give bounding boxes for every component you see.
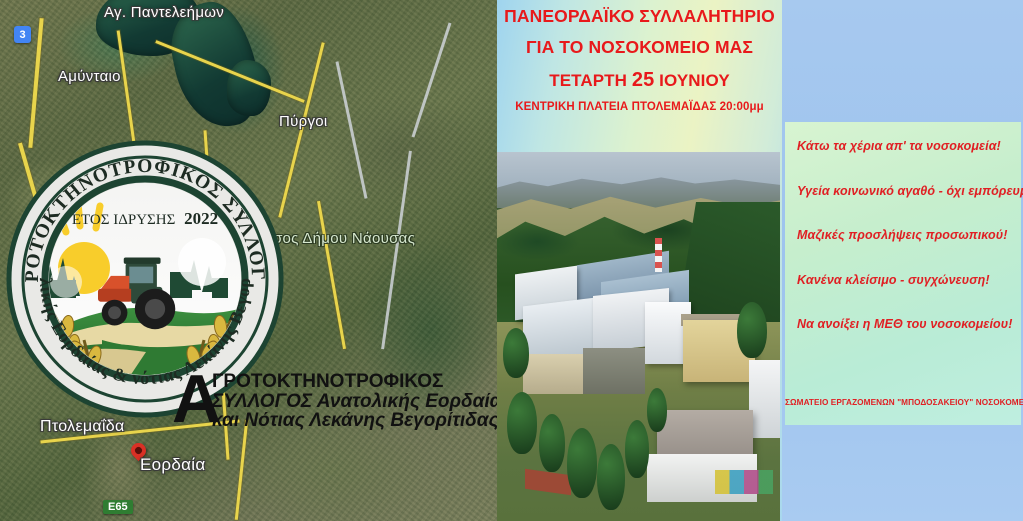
announcement-heading-block: ΠΑΝΕΟΡΔΑΪΚΟ ΣΥΛΛΑΛΗΤΗΡΙΟ ΓΙΑ ΤΟ ΝΟΣΟΚΟΜΕ… bbox=[497, 0, 782, 114]
photo-tree bbox=[597, 444, 625, 510]
slogan-item-4: Κανένα κλείσιμο - συγχώνευση! bbox=[797, 274, 1011, 287]
photo-tree bbox=[567, 428, 597, 498]
slogan-box: Κάτω τα χέρια απ' τα νοσοκομεία! Υγεία κ… bbox=[785, 122, 1021, 425]
photo-tree bbox=[503, 328, 529, 378]
union-signature-text: ΣΩΜΑΤΕΙΟ ΕΡΓΑΖΟΜΕΝΩΝ "ΜΠΟΔΟΣΑΚΕΙΟΥ" ΝΟΣΟ… bbox=[785, 398, 1021, 407]
map-label-eordaia: Εορδαία bbox=[140, 455, 205, 475]
union-poster-panel: Κάτω τα χέρια απ' τα νοσοκομεία! Υγεία κ… bbox=[782, 0, 1023, 521]
announcement-date-line: ΤΕΤΑΡΤΗ 25 ΙΟΥΝΙΟΥ bbox=[497, 70, 782, 90]
announcement-day-number: 25 bbox=[632, 69, 654, 91]
emblem-founded-year: 2022 bbox=[184, 209, 218, 228]
photo-tree bbox=[737, 302, 767, 358]
photo-tree bbox=[647, 388, 667, 432]
announcement-location-time: ΚΕΝΤΡΙΚΗ ΠΛΑΤΕΙΑ ΠΤΟΛΕΜΑΪΔΑΣ 20:00μμ bbox=[497, 102, 782, 114]
announcement-panel: ΠΑΝΕΟΡΔΑΪΚΟ ΣΥΛΛΑΛΗΤΗΡΙΟ ΓΙΑ ΤΟ ΝΟΣΟΚΟΜΕ… bbox=[497, 0, 782, 521]
poster-collage: 3 E65 Αγ. Παντελεήμων Αμύνταιο Πύργοι άσ… bbox=[0, 0, 1023, 521]
emblem-founded-text: ΕΤΟΣ ΙΔΡΥΣΗΣ bbox=[72, 212, 175, 228]
association-name-overlay: Α ΓΡΟΤΟΚΤΗΝΟΤΡΟΦΙΚΟΣ ΣΥΛΛΟΓΟΣ Ανατολικής… bbox=[172, 372, 492, 431]
slogan-item-1: Κάτω τα χέρια απ' τα νοσοκομεία! bbox=[797, 140, 1011, 153]
lake-shape bbox=[227, 60, 271, 116]
hospital-side-building bbox=[583, 348, 645, 394]
overlay-line-3: και Νότιας Λεκάνης Βεγορίτιδας bbox=[212, 411, 492, 431]
announcement-line-2: ΓΙΑ ΤΟ ΝΟΣΟΚΟΜΕΙΟ ΜΑΣ bbox=[497, 39, 782, 57]
hospital-colored-facade bbox=[715, 470, 773, 494]
overlay-line-2: ΣΥΛΛΟΓΟΣ Ανατολικής Εορδαίας bbox=[212, 392, 492, 412]
announcement-line-1: ΠΑΝΕΟΡΔΑΪΚΟ ΣΥΛΛΑΛΗΤΗΡΙΟ bbox=[497, 8, 782, 26]
route-number-badge[interactable]: 3 bbox=[14, 26, 31, 43]
map-label-agios-panteleimon: Αγ. Παντελεήμων bbox=[104, 4, 224, 21]
hospital-stair-tower bbox=[749, 360, 780, 438]
announcement-weekday: ΤΕΤΑΡΤΗ bbox=[549, 71, 632, 90]
map-label-ptolemaida: Πτολεμαΐδα bbox=[40, 418, 125, 436]
slogan-item-2: Υγεία κοινωνικό αγαθό - όχι εμπόρευμα! bbox=[797, 185, 1011, 198]
map-label-dasos-naousas: άσος Δήμου Νάουσας bbox=[264, 230, 415, 247]
slogan-item-5: Να ανοίξει η ΜΕΘ του νοσοκομείου! bbox=[797, 318, 1011, 331]
highway-number-badge[interactable]: E65 bbox=[103, 500, 133, 514]
slogan-item-3: Μαζικές προσλήψεις προσωπικού! bbox=[797, 229, 1011, 242]
photo-tree bbox=[625, 420, 649, 478]
hospital-side-building bbox=[523, 354, 587, 394]
announcement-month: ΙΟΥΝΙΟΥ bbox=[654, 71, 729, 90]
emblem-founded-label: ΕΤΟΣ ΙΔΡΥΣΗΣ 2022 bbox=[72, 209, 218, 228]
hospital-aerial-photo bbox=[497, 152, 780, 521]
map-label-pyrgoi: Πύργοι bbox=[279, 113, 328, 130]
photo-tree bbox=[507, 392, 537, 454]
photo-tree bbox=[539, 414, 565, 472]
hospital-chimney bbox=[655, 238, 662, 272]
overlay-line-1: ΓΡΟΤΟΚΤΗΝΟΤΡΟΦΙΚΟΣ bbox=[212, 372, 492, 392]
map-panel[interactable]: 3 E65 Αγ. Παντελεήμων Αμύνταιο Πύργοι άσ… bbox=[0, 0, 497, 521]
overlay-initial-letter: Α bbox=[172, 370, 221, 430]
map-label-amyntaio: Αμύνταιο bbox=[58, 68, 121, 85]
